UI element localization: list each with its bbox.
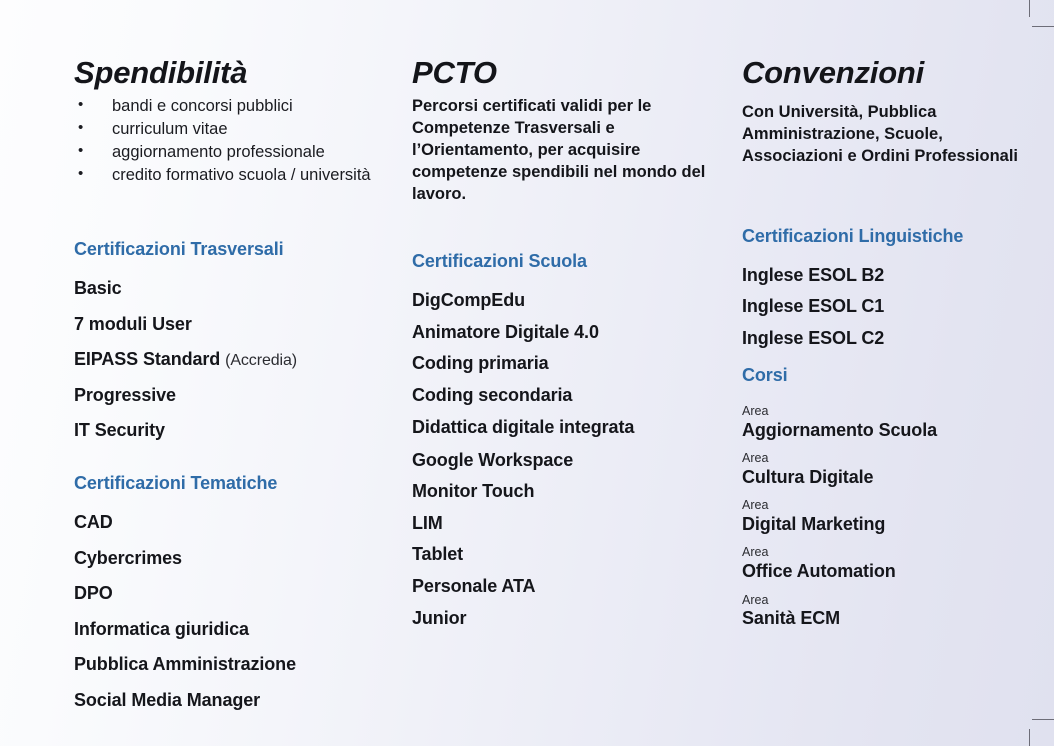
list-item: DPO	[74, 583, 398, 605]
column-pcto: PCTO Percorsi certificati validi per le …	[412, 56, 742, 746]
list-item: IT Security	[74, 420, 398, 442]
columns-container: Spendibilità bandi e concorsi pubblici c…	[0, 0, 1054, 746]
section-certificazioni-trasversali: Certificazioni Trasversali Basic 7 modul…	[74, 238, 398, 442]
list-item: Tablet	[412, 544, 726, 566]
list-item: Personale ATA	[412, 576, 726, 598]
list-item: DigCompEdu	[412, 290, 726, 312]
list-item: bandi e concorsi pubblici	[74, 96, 398, 118]
section-certificazioni-tematiche: Certificazioni Tematiche CAD Cybercrimes…	[74, 472, 398, 711]
area-name: Office Automation	[742, 561, 1044, 582]
convenzioni-description: Con Università, Pubblica Amministrazione…	[742, 102, 1044, 167]
heading-spendibilita: Spendibilità	[74, 56, 398, 89]
list-item: Inglese ESOL C2	[742, 328, 1044, 350]
area-label: Area	[742, 404, 1044, 418]
list-item: curriculum vitae	[74, 119, 398, 141]
area-label: Area	[742, 498, 1044, 512]
list-item: Pubblica Amministrazione	[74, 654, 398, 676]
list-item: Basic	[74, 278, 398, 300]
list-item: aggiornamento professionale	[74, 142, 398, 164]
list-item: Cybercrimes	[74, 548, 398, 570]
list-item: 7 moduli User	[74, 314, 398, 336]
list-item: Google Workspace	[412, 450, 726, 472]
area-name: Digital Marketing	[742, 514, 1044, 535]
list-item: credito formativo scuola / università	[74, 165, 398, 187]
spendibilita-bullet-list: bandi e concorsi pubblici curriculum vit…	[74, 96, 398, 187]
list-item: CAD	[74, 512, 398, 534]
list-item: Informatica giuridica	[74, 619, 398, 641]
section-certificazioni-linguistiche: Certificazioni Linguistiche Inglese ESOL…	[742, 225, 1044, 350]
section-title: Certificazioni Trasversali	[74, 238, 398, 261]
item-note: (Accredia)	[225, 352, 297, 369]
list-item: Coding primaria	[412, 353, 726, 375]
area-name: Cultura Digitale	[742, 467, 1044, 488]
list-item: Area Office Automation	[742, 545, 1044, 581]
column-spendibilita: Spendibilità bandi e concorsi pubblici c…	[0, 56, 412, 746]
section-title: Corsi	[742, 364, 1044, 387]
area-label: Area	[742, 593, 1044, 607]
list-item: Social Media Manager	[74, 690, 398, 712]
section-title: Certificazioni Scuola	[412, 250, 726, 273]
section-title: Certificazioni Linguistiche	[742, 225, 1044, 248]
list-item: Inglese ESOL C1	[742, 296, 1044, 318]
list-item: Area Aggiornamento Scuola	[742, 404, 1044, 440]
heading-convenzioni: Convenzioni	[742, 56, 1044, 89]
list-item: Animatore Digitale 4.0	[412, 322, 726, 344]
list-item: Area Sanità ECM	[742, 593, 1044, 629]
list-item: Didattica digitale integrata	[412, 417, 726, 437]
area-label: Area	[742, 545, 1044, 559]
pcto-description: Percorsi certificati validi per le Compe…	[412, 96, 726, 205]
list-item: LIM	[412, 513, 726, 535]
area-name: Sanità ECM	[742, 608, 1044, 629]
list-item: Inglese ESOL B2	[742, 265, 1044, 287]
list-item: EIPASS Standard (Accredia)	[74, 349, 398, 371]
area-name: Aggiornamento Scuola	[742, 420, 1044, 441]
section-corsi: Corsi Area Aggiornamento Scuola Area Cul…	[742, 364, 1044, 628]
column-convenzioni: Convenzioni Con Università, Pubblica Amm…	[742, 56, 1054, 746]
list-item: Coding secondaria	[412, 385, 726, 407]
section-title: Certificazioni Tematiche	[74, 472, 398, 495]
list-item: Progressive	[74, 385, 398, 407]
slide-canvas: Spendibilità bandi e concorsi pubblici c…	[0, 0, 1054, 746]
item-name: EIPASS Standard	[74, 349, 220, 369]
area-label: Area	[742, 451, 1044, 465]
heading-pcto: PCTO	[412, 56, 726, 89]
list-item: Area Digital Marketing	[742, 498, 1044, 534]
list-item: Monitor Touch	[412, 481, 726, 503]
list-item: Junior	[412, 608, 726, 630]
section-certificazioni-scuola: Certificazioni Scuola DigCompEdu Animato…	[412, 250, 726, 629]
list-item: Area Cultura Digitale	[742, 451, 1044, 487]
